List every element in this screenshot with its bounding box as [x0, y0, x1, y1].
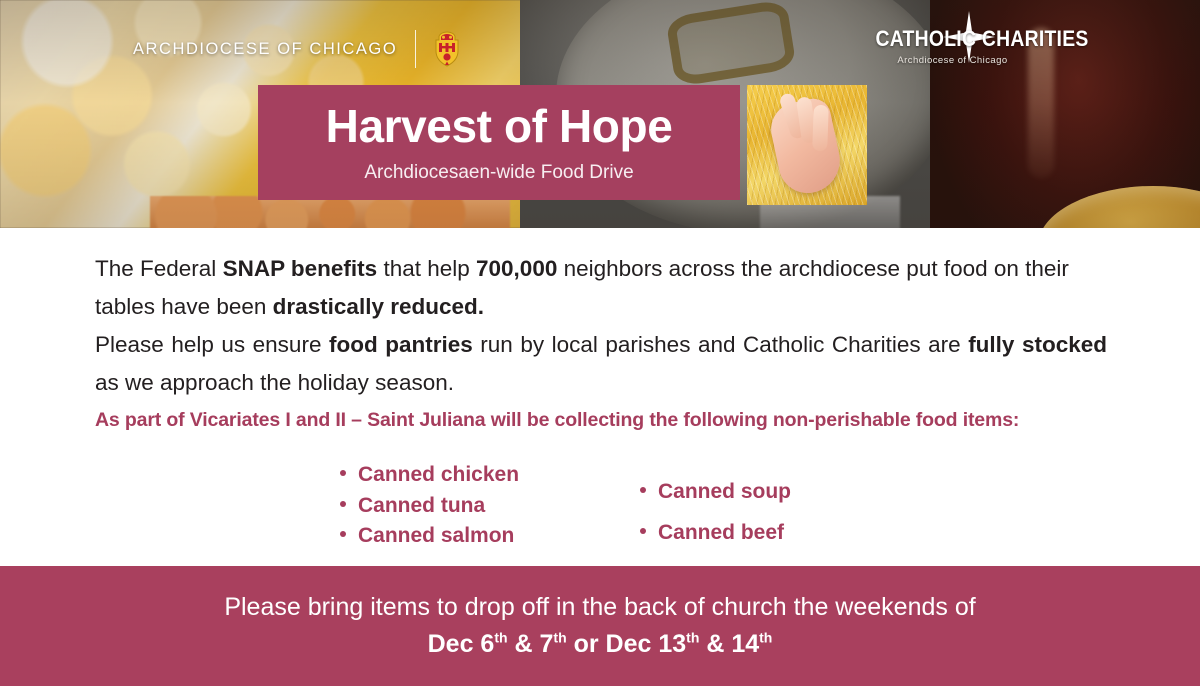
list-item-label: Canned beef [658, 512, 784, 553]
bullet-dot-icon [340, 501, 346, 507]
p2-part-e: as we approach the holiday season. [95, 370, 454, 395]
footer-date-ordinal-1: th [553, 630, 566, 646]
list-item: Canned soup [640, 471, 940, 512]
p2-part-a: Please help us ensure [95, 332, 329, 357]
footer-date-ordinal-2: th [686, 630, 699, 646]
bullet-dot-icon [640, 528, 646, 534]
list-item: Canned tuna [340, 491, 640, 522]
list-item-label: Canned salmon [358, 521, 514, 552]
page-title: Harvest of Hope [326, 103, 673, 149]
footer-banner: Please bring items to drop off in the ba… [0, 566, 1200, 686]
hand-in-wheat-photo [747, 85, 867, 205]
list-item: Canned salmon [340, 521, 640, 552]
lockup-divider [415, 30, 416, 68]
finger-shape-3 [812, 105, 829, 151]
paragraph-pantries: Please help us ensure food pantries run … [95, 326, 1107, 402]
list-item-label: Canned soup [658, 471, 791, 512]
list-item: Canned chicken [340, 460, 640, 491]
p2-part-c: run by local parishes and Catholic Chari… [473, 332, 968, 357]
footer-date-part-3: & 14 [699, 630, 759, 658]
p1-bold-number: 700,000 [476, 256, 557, 281]
bullet-dot-icon [640, 487, 646, 493]
footer-date-part-1: & 7 [508, 630, 554, 658]
archdiocese-lockup: ARCHDIOCESE OF CHICAGO [133, 30, 460, 68]
body-copy: The Federal SNAP benefits that help 700,… [95, 250, 1107, 432]
bullet-dot-icon [340, 470, 346, 476]
paragraph-snap: The Federal SNAP benefits that help 700,… [95, 250, 1107, 326]
page-subtitle: Archdiocesaen-wide Food Drive [364, 162, 633, 184]
items-column-right: Canned soup Canned beef [640, 458, 940, 553]
p2-bold-pantries: food pantries [329, 332, 473, 357]
footer-line-1: Please bring items to drop off in the ba… [224, 593, 975, 622]
p1-part-c: that help [377, 256, 476, 281]
archdiocese-crest-icon [434, 31, 460, 67]
p2-bold-stocked: fully stocked [968, 332, 1107, 357]
list-item-label: Canned chicken [358, 460, 519, 491]
items-column-left: Canned chicken Canned tuna Canned salmon [340, 458, 640, 553]
p1-bold-reduced: drastically reduced. [273, 294, 484, 319]
footer-line-2: Dec 6th & 7th or Dec 13th & 14th [428, 630, 773, 659]
title-banner: Harvest of Hope Archdiocesaen-wide Food … [258, 85, 740, 200]
bullet-dot-icon [340, 531, 346, 537]
list-item-label: Canned tuna [358, 491, 485, 522]
footer-date-part-2: or Dec 13 [567, 630, 687, 658]
footer-date-ordinal-3: th [759, 630, 772, 646]
list-item: Canned beef [640, 512, 940, 553]
poster-root: ARCHDIOCESE OF CHICAGO [0, 0, 1200, 686]
hero-header: ARCHDIOCESE OF CHICAGO [0, 0, 1200, 228]
footer-date-ordinal-0: th [494, 630, 507, 646]
body-section: The Federal SNAP benefits that help 700,… [0, 228, 1200, 566]
catholic-charities-name: CATHOLIC CHARITIES [876, 28, 1030, 50]
food-items-list: Canned chicken Canned tuna Canned salmon… [340, 458, 960, 553]
archdiocese-label: ARCHDIOCESE OF CHICAGO [133, 40, 397, 59]
footer-date-part-0: Dec 6 [428, 630, 495, 658]
p1-bold-snap: SNAP benefits [223, 256, 378, 281]
vicariates-line: As part of Vicariates I and II – Saint J… [95, 409, 1107, 432]
catholic-charities-lockup: CATHOLIC CHARITIES Archdiocese of Chicag… [865, 28, 1040, 66]
p1-part-a: The Federal [95, 256, 223, 281]
